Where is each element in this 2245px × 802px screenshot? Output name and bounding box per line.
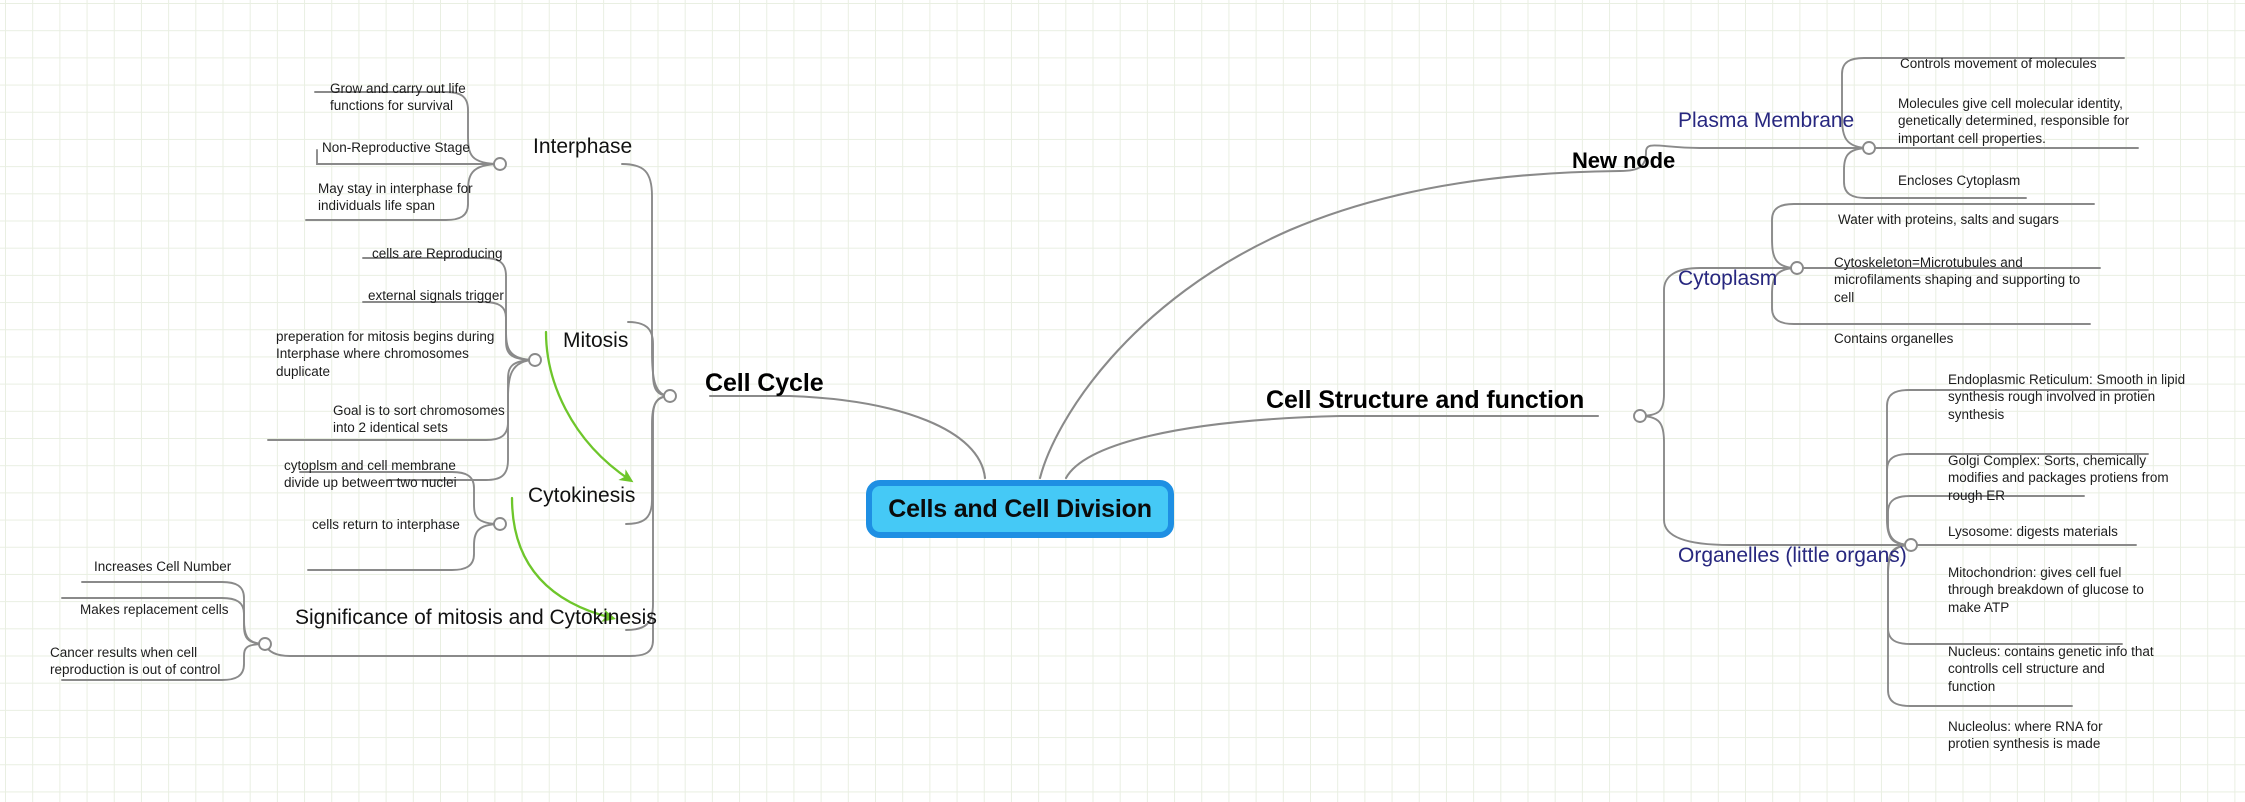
node-label-cytoplasm[interactable]: Cytoplasm xyxy=(1678,266,1777,292)
node-label-plasma-membrane[interactable]: Plasma Membrane xyxy=(1678,108,1854,134)
leaf-cytoplasm-1[interactable]: Cytoskeleton=Microtubules and microfilam… xyxy=(1834,254,2084,306)
branch-label-new-node[interactable]: New node xyxy=(1572,147,1675,174)
node-label-significance[interactable]: Significance of mitosis and Cytokinesis xyxy=(295,605,657,631)
leaf-cytoplasm-0[interactable]: Water with proteins, salts and sugars xyxy=(1838,211,2098,228)
arrow-cytokinesis-to-significance xyxy=(512,498,612,618)
leaf-mitosis-2[interactable]: preperation for mitosis begins during In… xyxy=(276,328,526,380)
node-label-mitosis[interactable]: Mitosis xyxy=(563,328,628,354)
leaf-significance-1[interactable]: Makes replacement cells xyxy=(80,601,260,618)
leaf-interphase-1[interactable]: Non-Reproductive Stage xyxy=(322,139,502,156)
leaf-organelles-4[interactable]: Nucleus: contains genetic info that cont… xyxy=(1948,643,2183,695)
root-node[interactable]: Cells and Cell Division xyxy=(866,480,1174,538)
leaf-significance-0[interactable]: Increases Cell Number xyxy=(94,558,264,575)
arrow-mitosis-to-cytokinesis xyxy=(546,332,630,480)
leaf-plasma-membrane-1[interactable]: Molecules give cell molecular identity, … xyxy=(1898,95,2148,147)
leaf-significance-2[interactable]: Cancer results when cell reproduction is… xyxy=(50,644,250,679)
leaf-plasma-membrane-2[interactable]: Encloses Cytoplasm xyxy=(1898,172,2128,189)
leaf-organelles-3[interactable]: Mitochondrion: gives cell fuel through b… xyxy=(1948,564,2183,616)
leaf-mitosis-1[interactable]: external signals trigger xyxy=(368,287,523,304)
root-node-label: Cells and Cell Division xyxy=(888,495,1152,524)
leaf-mitosis-0[interactable]: cells are Reproducing xyxy=(372,245,522,262)
leaf-interphase-0[interactable]: Grow and carry out life functions for su… xyxy=(330,80,505,115)
branch-label-cell-structure[interactable]: Cell Structure and function xyxy=(1266,385,1584,416)
leaf-cytokinesis-0[interactable]: cytoplsm and cell membrane divide up bet… xyxy=(284,457,494,492)
leaf-cytoplasm-2[interactable]: Contains organelles xyxy=(1834,330,2064,347)
leaf-organelles-0[interactable]: Endoplasmic Reticulum: Smooth in lipid s… xyxy=(1948,371,2208,423)
leaf-organelles-5[interactable]: Nucleolus: where RNA for protien synthes… xyxy=(1948,718,2168,753)
mindmap-canvas: Cells and Cell Division Cell Cycle Inter… xyxy=(0,0,2245,802)
leaf-cytokinesis-1[interactable]: cells return to interphase xyxy=(312,516,502,533)
leaf-organelles-2[interactable]: Lysosome: digests materials xyxy=(1948,523,2178,540)
node-label-organelles[interactable]: Organelles (little organs) xyxy=(1678,543,1907,569)
node-label-cytokinesis[interactable]: Cytokinesis xyxy=(528,483,635,509)
leaf-organelles-1[interactable]: Golgi Complex: Sorts, chemically modifie… xyxy=(1948,452,2193,504)
leaf-interphase-2[interactable]: May stay in interphase for individuals l… xyxy=(318,180,508,215)
leaf-mitosis-3[interactable]: Goal is to sort chromosomes into 2 ident… xyxy=(333,402,533,437)
leaf-plasma-membrane-0[interactable]: Controls movement of molecules xyxy=(1900,55,2150,72)
node-label-interphase[interactable]: Interphase xyxy=(533,134,632,160)
branch-label-cell-cycle[interactable]: Cell Cycle xyxy=(705,368,824,399)
